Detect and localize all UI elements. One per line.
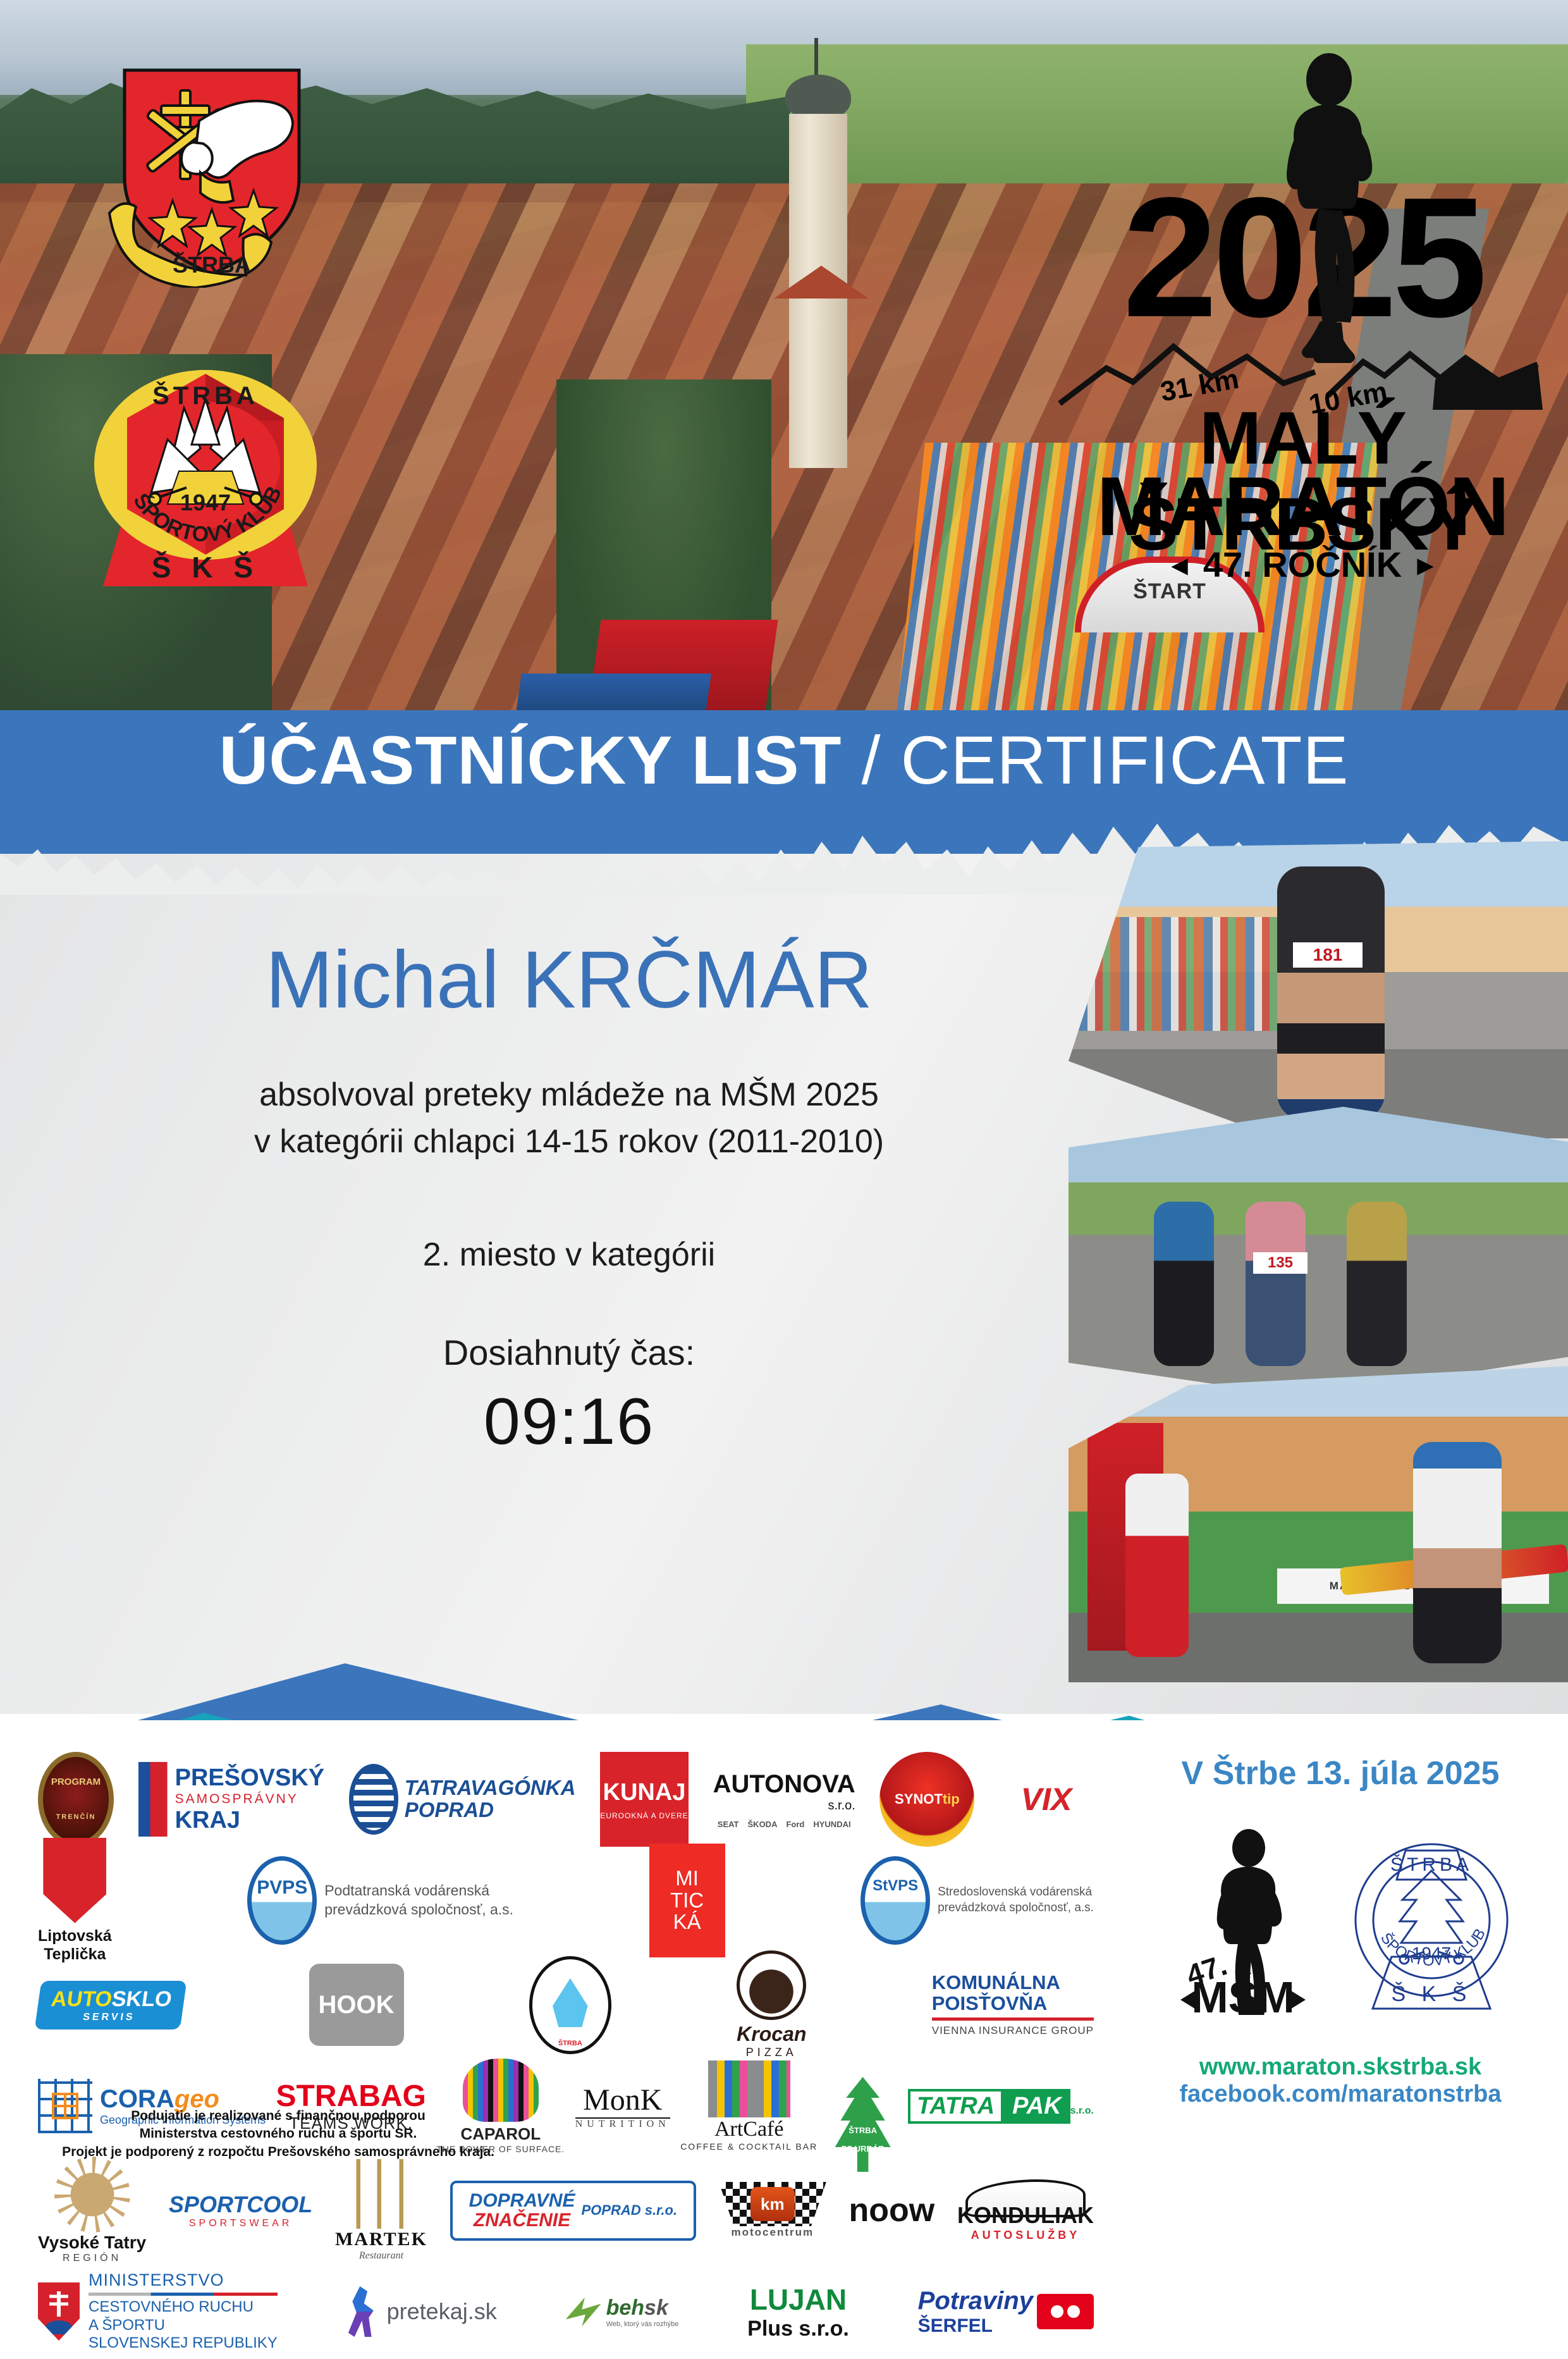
sponsor-sublabel: prevádzková spoločnosť, a.s. — [324, 1900, 513, 1919]
sponsor-ministerstvo: MINISTERSTVO CESTOVNÉHO RUCHU A ŠPORTU S… — [38, 2270, 278, 2353]
runner-figure — [1154, 1202, 1214, 1366]
pvps-icon: PVPS — [247, 1856, 317, 1945]
sponsor-label: PS URBÁR — [828, 2144, 898, 2153]
autonova-brands: SEAT ŠKODA Ford HYUNDAI — [713, 1820, 855, 1829]
slovak-coat-of-arms-icon — [38, 2282, 80, 2341]
svg-text:ŠTRBA: ŠTRBA — [152, 381, 259, 410]
sponsor-row-4: Vysoké Tatry REGIÓN SPORTCOOL SPORTSWEAR… — [38, 2157, 1094, 2264]
marathon-edition-label: 47. ROČNÍK — [1203, 545, 1402, 584]
sponsor-sportcool: SPORTCOOL SPORTSWEAR — [169, 2191, 312, 2229]
sponsor-abbr: PVPS — [257, 1877, 307, 1899]
presov-flag-icon — [138, 1762, 168, 1837]
sponsor-label: LUJAN — [747, 2282, 849, 2317]
sponsor-sublabel: SKLO — [110, 1987, 173, 2011]
description-line-2: v kategórii chlapci 14-15 rokov (2011-20… — [76, 1119, 1062, 1166]
sponsor-row-5: MINISTERSTVO CESTOVNÉHO RUCHU A ŠPORTU S… — [38, 2264, 1094, 2359]
sponsor-artcafe: ArtCafé COFFEE & COCKTAIL BAR — [680, 2060, 818, 2152]
sponsor-noow: noow — [849, 2191, 935, 2229]
sponsor-sublabel: TIC — [670, 1890, 704, 1912]
sponsor-sublabel: tip — [943, 1791, 960, 1808]
participant-description: absolvoval preteky mládeže na MŠM 2025 v… — [76, 1072, 1062, 1166]
sponsor-label: PROGRAM — [51, 1777, 101, 1788]
tricolor-bar — [89, 2293, 278, 2296]
sponsor-label: Podtatranská vodárenská — [324, 1882, 513, 1900]
marathon-edition: ◄ 47. ROČNÍK ► — [1037, 544, 1568, 585]
sponsor-label: MINISTERSTVO — [89, 2270, 278, 2290]
sponsor-sublabel: PIZZA — [737, 2046, 806, 2059]
turkey-icon — [737, 1950, 806, 2020]
sponsor-row-1: PROGRAM TRENČÍN PREŠOVSKÝ SAMOSPRÁVNY KR… — [38, 1752, 1094, 1847]
runner-icon — [346, 2286, 381, 2337]
tatravagonka-icon — [349, 1764, 398, 1835]
sponsor-dopravne-znacenie: DOPRAVNÉ ZNAČENIE POPRAD s.r.o. — [450, 2181, 696, 2241]
sponsor-pd-strba: ŠTRBA — [529, 1956, 611, 2054]
sponsor-vysoke-tatry: Vysoké Tatry REGIÓN — [38, 2157, 146, 2264]
msm-emblem: 47. MŠM — [1170, 1825, 1316, 2018]
brand-skoda: ŠKODA — [748, 1820, 778, 1829]
sponsor-label: Potraviny — [918, 2287, 1033, 2315]
runner-figure — [1246, 1202, 1306, 1366]
participant-name: Michal KRČMÁR — [76, 936, 1062, 1025]
certificate-content: Michal KRČMÁR absolvoval preteky mládeže… — [76, 936, 1062, 1460]
sponsor-sublabel: Plus s.r.o. — [747, 2317, 849, 2341]
sponsor-sublabel: ŠTRBA — [828, 2126, 898, 2135]
sponsor-sublabel2: Web, ktorý vás rozhýbe — [606, 2320, 679, 2328]
sponsor-sublabel: REGIÓN — [38, 2253, 146, 2264]
sponsor-sublabel: prevádzková spoločnosť, a.s. — [938, 1900, 1094, 1916]
title-slovak: ÚČASTNÍCKY LIST — [219, 722, 842, 798]
svg-text:1947: 1947 — [180, 490, 231, 515]
support-line-1: Podujatie je realizované s finančnou pod… — [38, 2107, 518, 2125]
sponsor-sublabel: COFFEE & COCKTAIL BAR — [680, 2141, 818, 2152]
footer-emblems: 47. MŠM ŠTRBA 194 — [1113, 1825, 1568, 2018]
church-icon — [752, 38, 885, 468]
spectators — [1069, 917, 1277, 1031]
sponsor-row-2: Liptovská Teplička PVPS Podtatranská vod… — [38, 1847, 1094, 1954]
sun-mountain-icon — [54, 2157, 130, 2233]
checkered-flag-icon: km — [719, 2182, 826, 2226]
sponsor-program-trencin: PROGRAM TRENČÍN — [38, 1752, 114, 1847]
certificate-title-banner: ÚČASTNÍCKY LIST / CERTIFICATE — [0, 710, 1568, 856]
sponsor-label: VIX — [1021, 1781, 1072, 1818]
collage-photo-finisher: 181 — [1069, 841, 1568, 1138]
website-link[interactable]: www.maraton.skstrba.sk — [1113, 2054, 1568, 2081]
sponsor-pretekaj-sk: pretekaj.sk — [346, 2286, 497, 2337]
footer-right-column: V Štrbe 13. júla 2025 47. MŠM — [1113, 1733, 1568, 2108]
sponsor-label: AUTO — [50, 1987, 114, 2011]
sponsor-sublabel: PAK — [1003, 2089, 1070, 2124]
brand-hyundai: HYUNDAI — [813, 1820, 850, 1829]
footer-links: www.maraton.skstrba.sk facebook.com/mara… — [1113, 2054, 1568, 2108]
artcafe-bars-icon — [708, 2060, 790, 2117]
time-label: Dosiahnutý čas: — [76, 1332, 1062, 1373]
facebook-link[interactable]: facebook.com/maratonstrba — [1113, 2081, 1568, 2108]
sponsor-abbr: StVPS — [873, 1877, 918, 1895]
sponsor-label: HOOK — [319, 1991, 395, 2019]
sponsor-sublabel: ŠTRBA — [558, 2040, 582, 2047]
stvps-icon: StVPS — [861, 1856, 930, 1945]
sponsor-monk-nutrition: MonK NUTRITION — [575, 2083, 670, 2130]
sponsor-synottip: SYNOTtip — [879, 1752, 974, 1847]
sponsor-sublabel: TRENČÍN — [56, 1813, 96, 1821]
arrow-left-icon: ◄ — [1166, 550, 1194, 581]
sponsor-sublabel: motocentrum — [719, 2226, 826, 2239]
sponsor-konduliak: KONDULIAK AUTOSLUŽBY — [957, 2179, 1094, 2242]
event-date: V Štrbe 13. júla 2025 — [1113, 1754, 1568, 1792]
sponsor-sublabel: EUROOKNÁ A DVERE — [600, 1811, 688, 1820]
svg-text:Š K Š: Š K Š — [1392, 1982, 1472, 2006]
sponsor-sublabel2: A ŠPORTU — [89, 2317, 278, 2335]
sponsor-km-motocentrum: km motocentrum — [719, 2182, 826, 2239]
support-line-2: Ministerstva cestovného ruchu a športu S… — [38, 2125, 518, 2143]
sponsor-grid: PROGRAM TRENČÍN PREŠOVSKÝ SAMOSPRÁVNY KR… — [38, 1752, 1094, 2169]
support-text: Podujatie je realizované s finančnou pod… — [38, 2107, 518, 2161]
sponsor-label: Liptovská — [38, 1927, 112, 1945]
sponsor-beh-sk: behsk Web, ktorý vás rozhýbe — [566, 2294, 679, 2329]
sponsor-sublabel: SAMOSPRÁVNY — [175, 1792, 325, 1807]
sponsor-sublabel: SPORTSWEAR — [169, 2218, 312, 2229]
sponsor-tatravagonka: TATRAVAGÓNKA POPRAD — [349, 1764, 576, 1835]
marathon-logo: 2025 31 km 10 km MALÝ ŠTRBSKÝ MARATÓN ◄ — [1037, 44, 1568, 601]
sponsor-label: Vysoké Tatry — [38, 2233, 146, 2253]
bib-number-181: 181 — [1293, 942, 1363, 968]
sponsor-sublabel: CESTOVNÉHO RUCHU — [89, 2298, 278, 2317]
sponsor-ps-urbar-strba: PS URBÁR ŠTRBA — [828, 2077, 898, 2135]
sponsor-label: Krocan — [737, 2023, 806, 2046]
svg-text:ŠTRBA: ŠTRBA — [173, 251, 251, 278]
sponsor-sublabel2: VIENNA INSURANCE GROUP — [932, 2024, 1094, 2037]
sponsor-stvps: StVPS Stredoslovenská vodárenská prevádz… — [861, 1856, 1094, 1945]
sponsor-label: ArtCafé — [680, 2117, 818, 2141]
divider-bar — [932, 2017, 1094, 2021]
sponsor-sublabel2: POPRAD s.r.o. — [581, 2202, 677, 2219]
sponsor-hook: HOOK — [309, 1964, 404, 2046]
sponsor-martek: MARTEK Restaurant — [335, 2159, 427, 2262]
sks-club-emblem: ŠTRBA 1947 ŠPORTOVÝ KLUB Š K Š — [92, 313, 319, 591]
sponsor-sublabel: s.r.o. — [713, 1799, 855, 1813]
sponsor-sublabel: ZNAČENIE — [474, 2210, 570, 2231]
water-drop-icon — [549, 1978, 591, 2031]
sponsor-label: TATRAVAGÓNKA — [405, 1777, 576, 1799]
sponsor-sublabel2: KÁ — [673, 1911, 701, 1933]
sponsor-sublabel3: SLOVENSKEJ REPUBLIKY — [89, 2334, 278, 2353]
sponsor-sublabel: ŠERFEL — [918, 2315, 1033, 2337]
bib-number-135: 135 — [1253, 1252, 1308, 1274]
sponsor-sublabel: AUTOSLUŽBY — [957, 2229, 1094, 2242]
sponsor-sublabel: Teplička — [38, 1945, 112, 1964]
sponsor-label: MARTEK — [335, 2229, 427, 2250]
sponsor-row-2b: AUTOSKLO SERVIS HOOK ŠTRBA Krocan PIZZA — [38, 1954, 1094, 2055]
sponsor-label: Stredoslovenská vodárenská — [938, 1885, 1094, 1900]
runner-figure — [1347, 1202, 1407, 1366]
sponsor-kunaj: KUNAJ EUROOKNÁ A DVERE — [600, 1752, 689, 1847]
sponsor-sublabel: Restaurant — [335, 2250, 427, 2262]
sponsor-krocan-pizza: Krocan PIZZA — [737, 1950, 806, 2059]
serfel-dots-icon — [1037, 2294, 1094, 2329]
collage-photo-course: 135 — [1069, 1107, 1568, 1398]
sponsor-presovsky-kraj: PREŠOVSKÝ SAMOSPRÁVNY KRAJ — [138, 1762, 325, 1837]
sponsor-label: KONDULIAK — [957, 2202, 1094, 2229]
strba-coat-of-arms: ŠTRBA — [104, 66, 319, 288]
sponsor-sublabel2: SERVIS — [82, 2012, 136, 2023]
sponsor-label: TATRA — [908, 2089, 1003, 2124]
sponsor-label: pretekaj.sk — [387, 2298, 497, 2325]
sponsor-potraviny-serfel: Potraviny ŠERFEL — [918, 2287, 1094, 2337]
sponsor-label: KOMUNÁLNA — [932, 1973, 1094, 1993]
sponsor-liptovska-teplicka: Liptovská Teplička — [38, 1838, 112, 1964]
sponsor-komunalna-poistovna: KOMUNÁLNA POISŤOVŇA VIENNA INSURANCE GRO… — [932, 1973, 1094, 2037]
runner-silhouette-icon — [1271, 51, 1385, 379]
sponsor-label: MonK — [575, 2083, 670, 2117]
marathon-title-line2: MARATÓN — [1037, 459, 1568, 554]
sponsor-autonova: AUTONOVA s.r.o. SEAT ŠKODA Ford HYUNDAI — [713, 1770, 855, 1829]
title-separator: / — [842, 722, 900, 798]
placement-text: 2. miesto v kategórii — [76, 1236, 1062, 1274]
sponsor-sublabel2: KRAJ — [175, 1807, 325, 1834]
sponsor-label: beh — [606, 2296, 644, 2320]
sponsor-label: MI — [675, 1868, 699, 1890]
sponsor-label: KUNAJ — [603, 1779, 686, 1806]
svg-text:ŠTRBA: ŠTRBA — [1390, 1854, 1473, 1875]
svg-text:MŠM: MŠM — [1191, 1972, 1294, 2015]
sponsor-sublabel: POISŤOVŇA — [932, 1993, 1094, 2014]
sponsor-lujan-plus: LUJAN Plus s.r.o. — [747, 2282, 849, 2341]
sponsor-sublabel2: s.r.o. — [1070, 2105, 1094, 2116]
title-english: CERTIFICATE — [901, 722, 1349, 798]
certificate-title: ÚČASTNÍCKY LIST / CERTIFICATE — [0, 724, 1568, 796]
sponsor-vix: VIX — [999, 1761, 1094, 1837]
photo-collage: 181 135 MALÝ ŠTRBSKÝ MARATÓN — [1069, 841, 1568, 1682]
sponsor-miticka: MI TIC KÁ — [649, 1844, 725, 1957]
svg-text:Š K Š: Š K Š — [152, 551, 259, 584]
sponsor-label: DOPRAVNÉ — [469, 2190, 575, 2211]
sponsor-label: SYNOT — [895, 1791, 943, 1808]
sponsor-tatrapak: TATRAPAKs.r.o. — [908, 2089, 1094, 2124]
sponsor-label: AUTONOVA — [713, 1770, 855, 1799]
description-line-1: absolvoval preteky mládeže na MŠM 2025 — [76, 1072, 1062, 1119]
sponsor-autosklo-servis: AUTOSKLO SERVIS — [38, 1981, 183, 2029]
sponsor-label: SPORTCOOL — [169, 2191, 312, 2218]
finish-time: 09:16 — [76, 1384, 1062, 1460]
sks-stamp-emblem: ŠTRBA 1947 ŠPORTOVÝ KLUB Š K Š — [1352, 1825, 1510, 2018]
runner-figure — [1277, 866, 1385, 1119]
liptovska-teplicka-coat-icon — [43, 1838, 106, 1923]
sponsor-label: PREŠOVSKÝ — [175, 1765, 325, 1792]
arrow-right-icon: ► — [1412, 550, 1440, 581]
sponsor-pvps: PVPS Podtatranská vodárenská prevádzková… — [247, 1856, 513, 1945]
brand-seat: SEAT — [718, 1820, 739, 1829]
sponsor-label: noow — [849, 2191, 935, 2229]
sponsor-sublabel: NUTRITION — [575, 2117, 670, 2130]
sponsor-sublabel: POPRAD — [405, 1799, 576, 1821]
sponsor-sublabel: sk — [644, 2296, 668, 2320]
brand-ford: Ford — [786, 1820, 804, 1829]
swoosh-icon — [566, 2294, 601, 2329]
sponsor-label: km — [750, 2187, 795, 2221]
support-line-3: Projekt je podporený z rozpočtu Prešovsk… — [38, 2143, 518, 2161]
